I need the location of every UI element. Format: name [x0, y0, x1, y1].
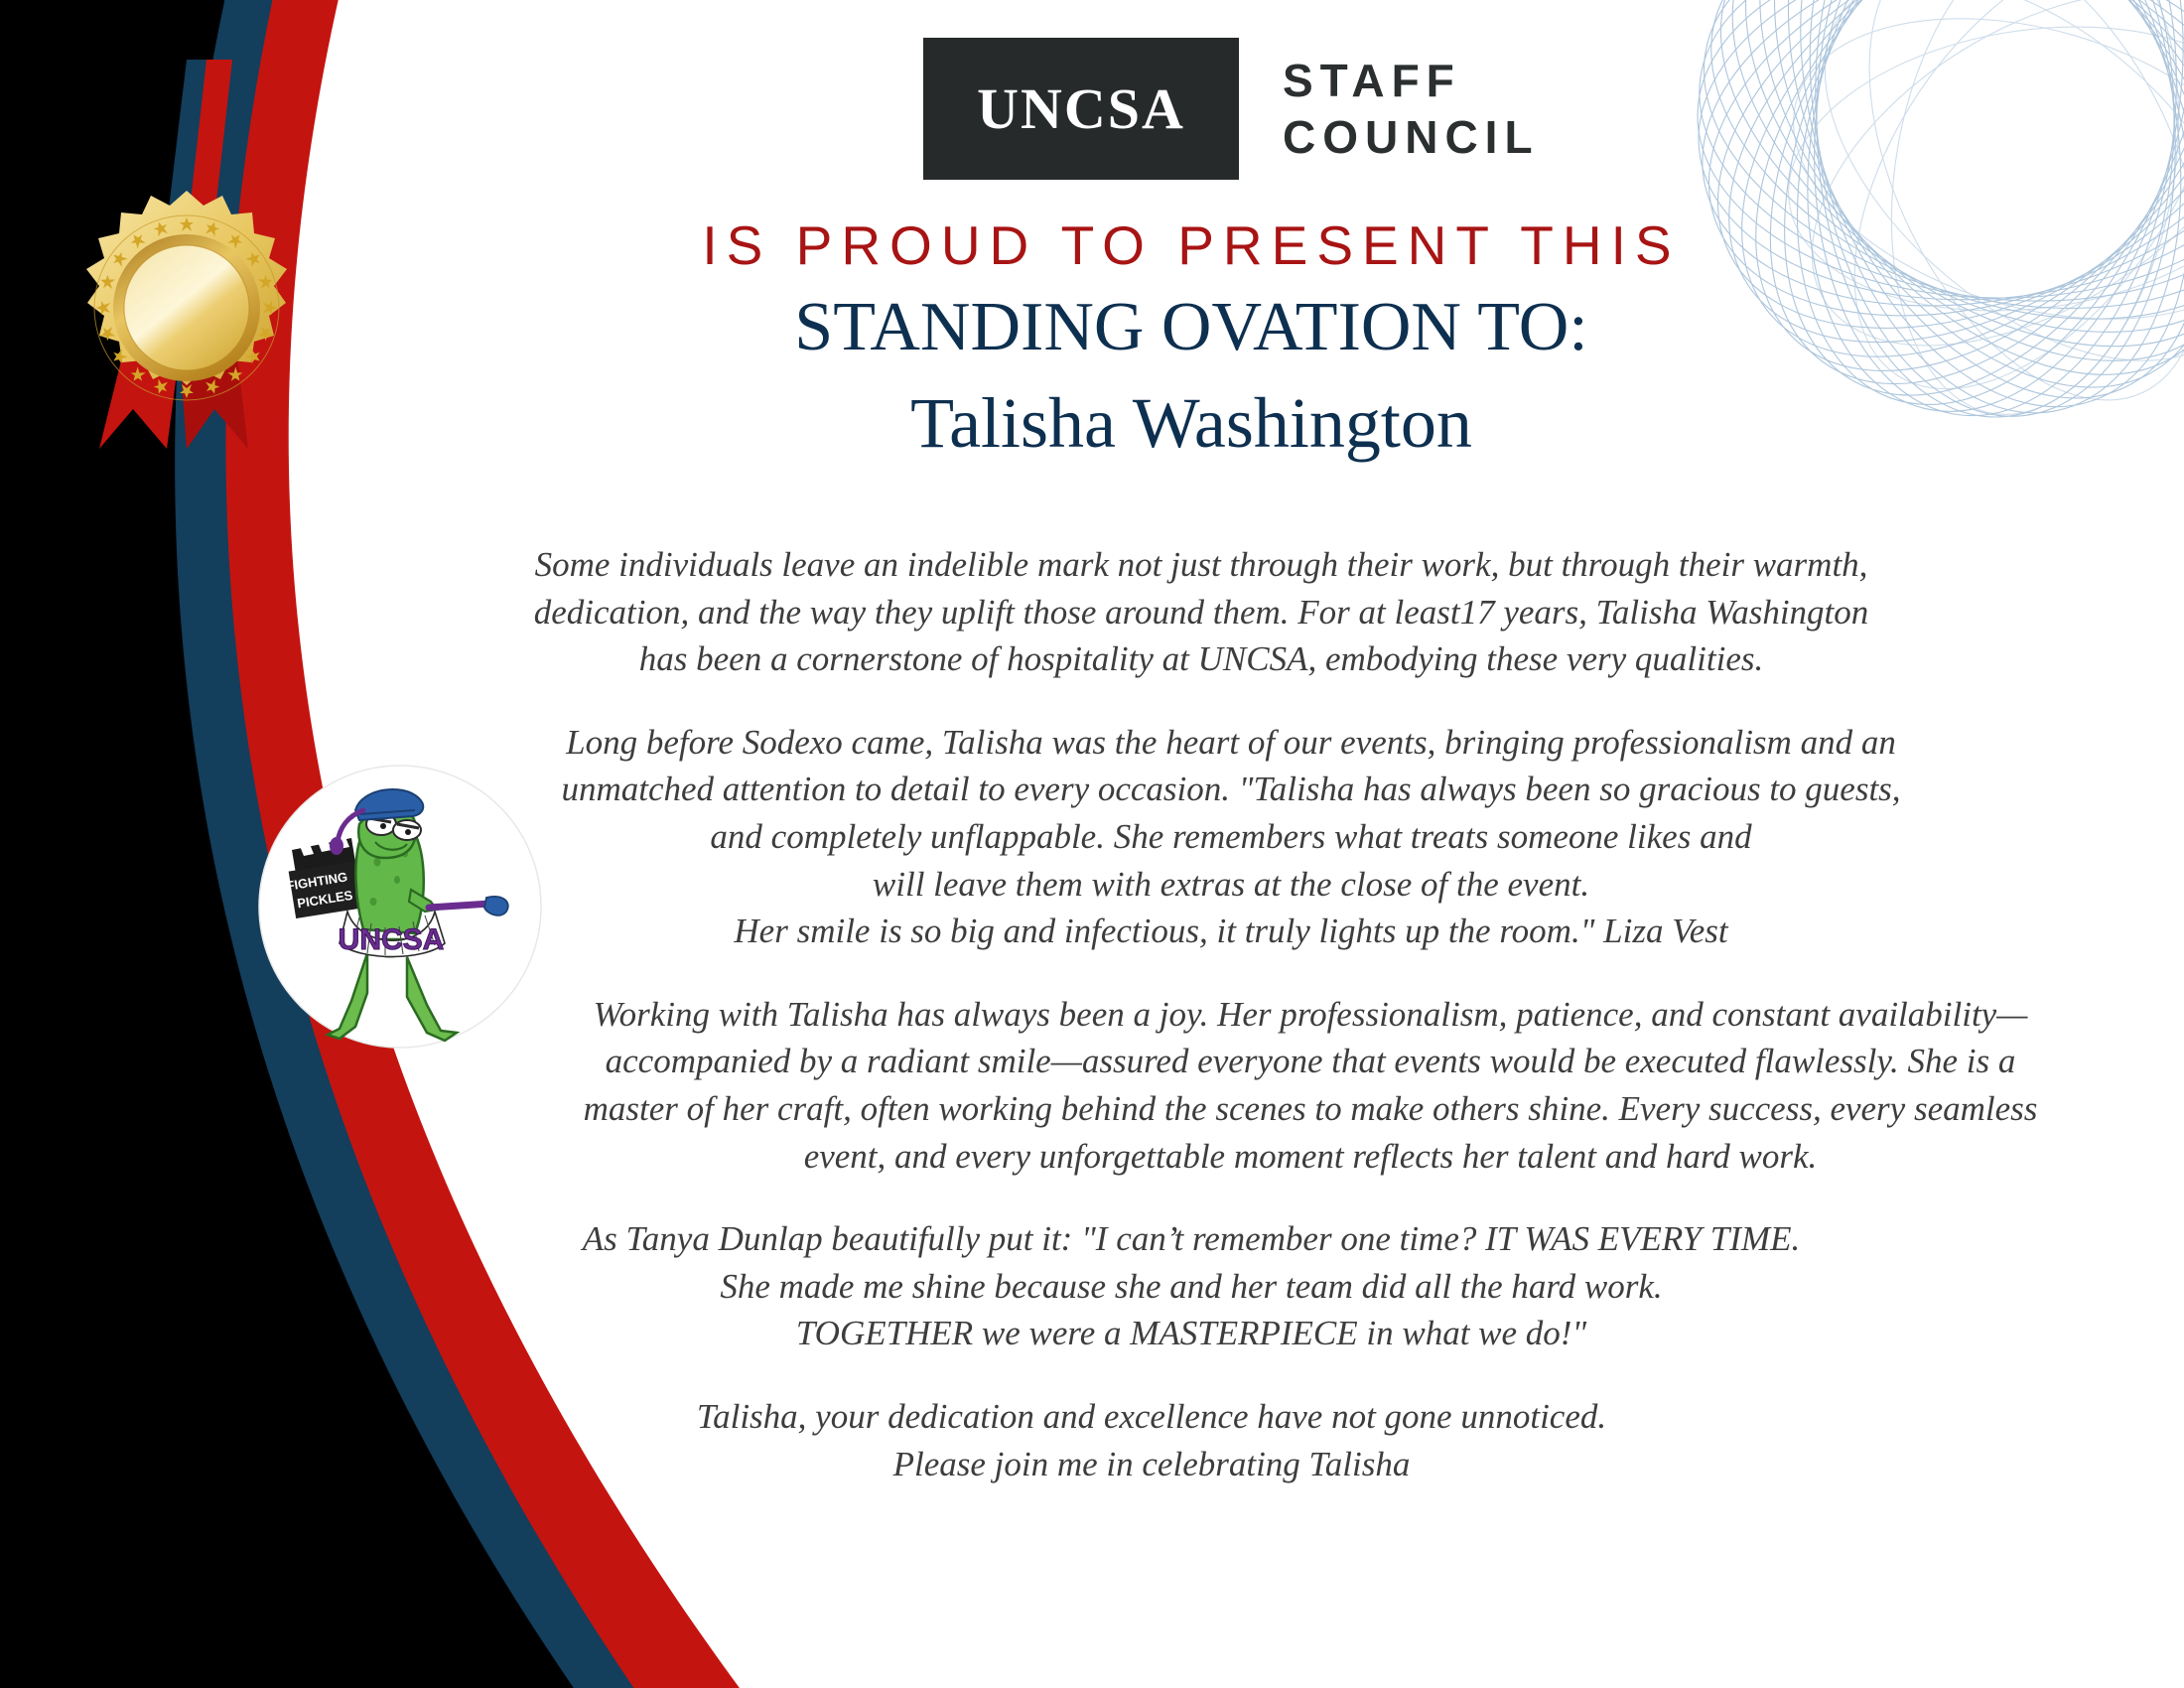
- wordmark-line-staff: STAFF: [1283, 53, 1540, 108]
- citation-line: unmatched attention to detail to every o…: [496, 766, 1966, 813]
- citation-line: will leave them with extras at the close…: [496, 861, 1966, 909]
- citation-line: As Tanya Dunlap beautifully put it: "I c…: [496, 1215, 1886, 1263]
- standing-ovation-heading: STANDING OVATION TO:: [0, 288, 2184, 367]
- citation-paragraph-4: As Tanya Dunlap beautifully put it: "I c…: [496, 1215, 1886, 1357]
- citation-line: accompanied by a radiant smile—assured e…: [496, 1038, 2124, 1085]
- citation-line: event, and every unforgettable moment re…: [496, 1133, 2124, 1181]
- citation-paragraph-3: Working with Talisha has always been a j…: [496, 991, 2124, 1180]
- citation-line: master of her craft, often working behin…: [496, 1085, 2124, 1133]
- citation-line: and completely unflappable. She remember…: [496, 813, 1966, 861]
- proud-to-present-line: IS PROUD TO PRESENT THIS: [0, 213, 2184, 277]
- citation-paragraph-1: Some individuals leave an indelible mark…: [496, 541, 1906, 683]
- citation-paragraph-5: Talisha, your dedication and excellence …: [496, 1393, 1807, 1487]
- citation-line: TOGETHER we were a MASTERPIECE in what w…: [496, 1310, 1886, 1357]
- citation-paragraph-2: Long before Sodexo came, Talisha was the…: [496, 719, 1966, 955]
- citation-line: Her smile is so big and infectious, it t…: [496, 908, 1966, 955]
- tutu-label: UNCSA: [339, 923, 445, 956]
- citation-line: Talisha, your dedication and excellence …: [496, 1393, 1807, 1441]
- citation-line: has been a cornerstone of hospitality at…: [496, 635, 1906, 683]
- citation-line: Long before Sodexo came, Talisha was the…: [496, 719, 1966, 767]
- uncsa-logo-text: UNCSA: [977, 75, 1185, 142]
- clapboard-icon: FIGHTING PICKLES: [285, 837, 362, 918]
- uncsa-logo-mark: UNCSA: [923, 38, 1239, 180]
- wordmark-line-council: COUNCIL: [1283, 109, 1540, 165]
- citation-line: Some individuals leave an indelible mark…: [496, 541, 1906, 589]
- certificate-page: FIGHTING PICKLES: [0, 0, 2184, 1688]
- staff-council-wordmark: STAFF COUNCIL: [1283, 53, 1540, 164]
- citation-body: Some individuals leave an indelible mark…: [496, 541, 2144, 1487]
- citation-line: Working with Talisha has always been a j…: [496, 991, 2124, 1039]
- honoree-name: Talisha Washington: [0, 382, 2184, 465]
- uncsa-staff-council-logo: UNCSA STAFF COUNCIL: [923, 38, 1540, 180]
- citation-line: Please join me in celebrating Talisha: [496, 1441, 1807, 1488]
- citation-line: She made me shine because she and her te…: [496, 1263, 1886, 1311]
- citation-line: dedication, and the way they uplift thos…: [496, 589, 1906, 636]
